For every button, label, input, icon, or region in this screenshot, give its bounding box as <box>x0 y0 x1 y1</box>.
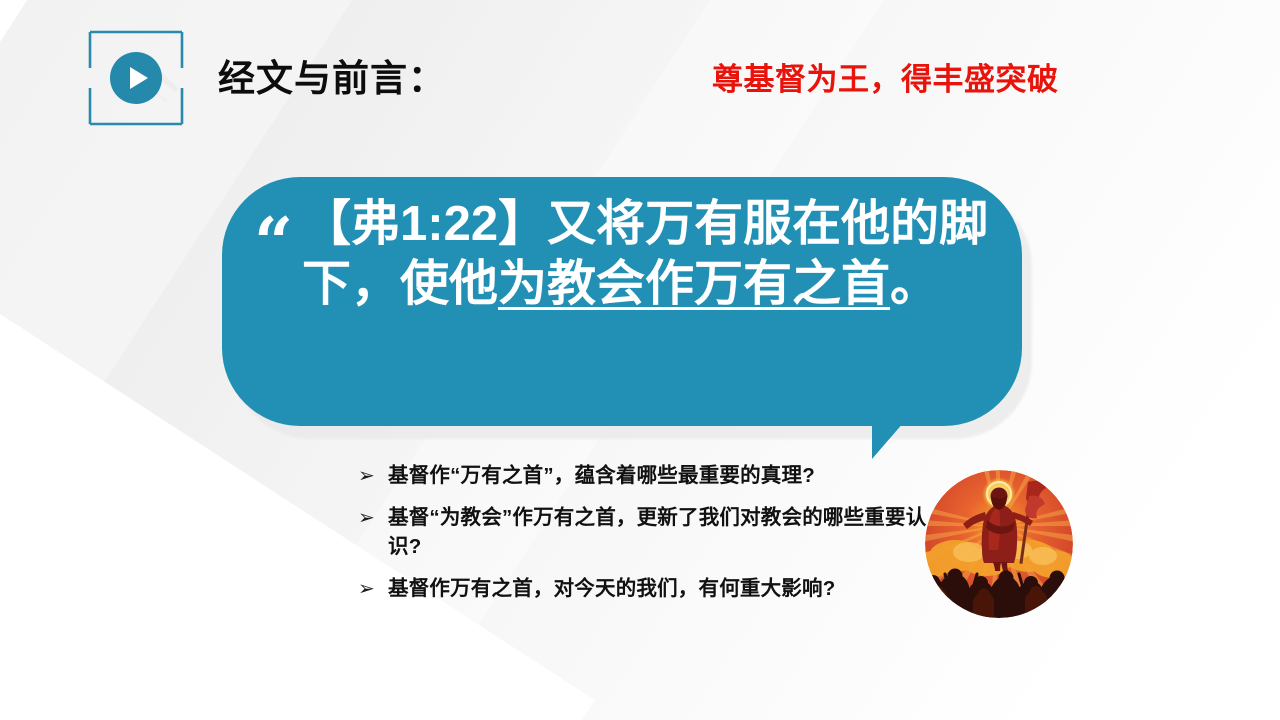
scripture-quote-bubble: “ 【弗1:22】又将万有服在他的脚下，使他为教会作万有之首。 <box>222 177 1022 467</box>
arrow-bullet-icon: ➢ <box>358 504 388 531</box>
arrow-bullet-icon: ➢ <box>358 462 388 489</box>
list-item-label: 基督“为教会”作万有之首，更新了我们对教会的哪些重要认识? <box>388 504 948 561</box>
scripture-text: 【弗1:22】又将万有服在他的脚下，使他为教会作万有之首。 <box>302 195 1022 315</box>
arrow-bullet-icon: ➢ <box>358 575 388 602</box>
slide-header: 经文与前言： 尊基督为王，得丰盛突破 <box>0 0 1280 150</box>
scripture-line-3-underlined: 有之首 <box>743 257 890 311</box>
slide-canvas: 经文与前言： 尊基督为王，得丰盛突破 “ 【弗1:22】又将万有服在他的脚下，使… <box>0 0 1280 720</box>
play-triangle-icon <box>130 67 148 89</box>
page-title: 经文与前言： <box>218 48 446 102</box>
bubble-content: “ 【弗1:22】又将万有服在他的脚下，使他为教会作万有之首。 <box>222 177 1022 426</box>
question-list: ➢ 基督作“万有之首”，蕴含着哪些最重要的真理? ➢ 基督“为教会”作万有之首，… <box>358 462 948 617</box>
list-item-label: 基督作“万有之首”，蕴含着哪些最重要的真理? <box>388 462 948 490</box>
list-item: ➢ 基督作万有之首，对今天的我们，有何重大影响? <box>358 575 948 603</box>
risen-christ-illustration <box>925 470 1073 618</box>
page-subtitle: 尊基督为王，得丰盛突破 <box>712 54 1059 99</box>
risen-christ-circle-image <box>925 470 1073 618</box>
play-button-icon[interactable] <box>88 30 184 126</box>
quote-mark-icon: “ <box>254 223 302 264</box>
play-circle <box>110 52 162 104</box>
scripture-line-2-underlined: 为教会作万 <box>498 257 743 311</box>
list-item-label: 基督作万有之首，对今天的我们，有何重大影响? <box>388 575 948 603</box>
scripture-line-1: 【弗1:22】又将万有服在他 <box>302 197 890 251</box>
scripture-line-3-plain: 。 <box>890 257 939 311</box>
list-item: ➢ 基督作“万有之首”，蕴含着哪些最重要的真理? <box>358 462 948 490</box>
list-item: ➢ 基督“为教会”作万有之首，更新了我们对教会的哪些重要认识? <box>358 504 948 561</box>
